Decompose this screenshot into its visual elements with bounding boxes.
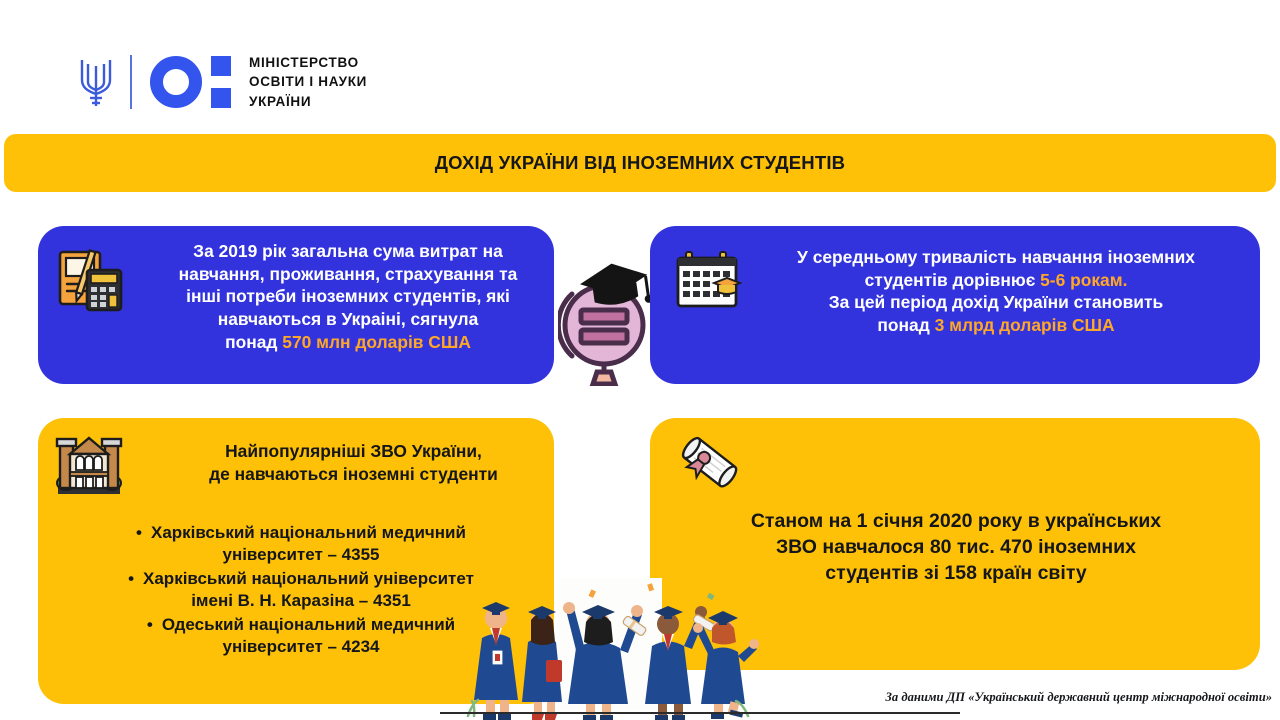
source-attribution: За даними ДП «Український державний цент… — [740, 690, 1272, 705]
university-2-line-1: Харківський національний університет — [143, 569, 474, 588]
footer-divider — [440, 712, 960, 714]
graduating-students-illustration — [462, 578, 762, 720]
page-title: ДОХІД УКРАЇНИ ВІД ІНОЗЕМНИХ СТУДЕНТІВ — [435, 152, 845, 174]
logo-line-2: ОСВІТИ І НАУКИ — [249, 72, 367, 91]
duration-line-1: У середньому тривалість навчання іноземн… — [797, 247, 1195, 267]
expenses-line-4: навчаються в Украіні, сягнула — [218, 309, 479, 329]
university-3-line-2: університет – 4234 — [222, 637, 379, 656]
page-title-banner: ДОХІД УКРАЇНИ ВІД ІНОЗЕМНИХ СТУДЕНТІВ — [4, 134, 1276, 192]
card-expenses-text: За 2019 рік загальна сума витрат на навч… — [156, 240, 540, 353]
card-duration-text: У середньому тривалість навчання іноземн… — [746, 246, 1246, 337]
expenses-line-5-prefix: понад — [225, 332, 282, 352]
universities-head-line-2: де навчаються іноземні студенти — [209, 464, 498, 484]
bullet-icon: • — [136, 522, 142, 544]
logo-divider — [130, 55, 132, 109]
duration-years-highlight: 5-6 рокам. — [1040, 270, 1127, 290]
ukraine-trident-icon — [76, 54, 116, 110]
university-1-line-2: університет – 4355 — [222, 545, 379, 564]
expenses-line-3: інші потреби іноземних студентів, які — [186, 286, 510, 306]
duration-line-3: За цей період дохід України становить — [829, 292, 1163, 312]
calendar-graduation-icon — [672, 244, 742, 314]
ministry-logo: МІНІСТЕРСТВО ОСВІТИ І НАУКИ УКРАЇНИ — [76, 50, 367, 114]
logo-colon-squares — [211, 56, 231, 108]
universities-head-line-1: Найпопулярніші ЗВО України, — [225, 441, 482, 461]
university-building-icon — [54, 428, 124, 498]
logo-line-1: МІНІСТЕРСТВО — [249, 53, 367, 72]
students-line-1: Станом на 1 січня 2020 року в українськи… — [751, 510, 1161, 532]
calculator-clipboard-icon — [54, 244, 126, 316]
list-item: •Харківський національний медичний уніве… — [60, 522, 542, 566]
logo-o-circle — [150, 56, 202, 108]
students-line-2: ЗВО навчалося 80 тис. 470 іноземних — [776, 536, 1136, 558]
logo-line-3: УКРАЇНИ — [249, 92, 367, 111]
university-1-line-1: Харківський національний медичний — [151, 523, 466, 542]
expenses-amount-highlight: 570 млн доларів США — [282, 332, 471, 352]
diploma-scroll-icon — [672, 426, 746, 500]
duration-line-2-prefix: студентів дорівнює — [865, 270, 1041, 290]
expenses-line-2: навчання, проживання, страхування та — [179, 264, 518, 284]
expenses-line-1: За 2019 рік загальна сума витрат на — [193, 241, 503, 261]
duration-line-4-prefix: понад — [877, 315, 934, 335]
bullet-icon: • — [147, 614, 153, 636]
university-2-line-2: імені В. Н. Каразіна – 4351 — [191, 591, 411, 610]
ministry-logo-text: МІНІСТЕРСТВО ОСВІТИ І НАУКИ УКРАЇНИ — [249, 53, 367, 110]
infographic-page: МІНІСТЕРСТВО ОСВІТИ І НАУКИ УКРАЇНИ ДОХІ… — [0, 0, 1280, 720]
card-universities-heading: Найпопулярніші ЗВО України, де навчаютьс… — [166, 440, 541, 486]
globe-graduation-cap-icon — [558, 252, 650, 386]
duration-amount-highlight: 3 млрд доларів США — [935, 315, 1115, 335]
bullet-icon: • — [128, 568, 134, 590]
students-line-3: студентів зі 158 країн світу — [825, 562, 1086, 584]
university-3-line-1: Одеський національний медичний — [162, 615, 455, 634]
mon-circle-colon-icon — [150, 56, 231, 108]
card-students-text: Станом на 1 січня 2020 року в українськи… — [700, 508, 1212, 586]
